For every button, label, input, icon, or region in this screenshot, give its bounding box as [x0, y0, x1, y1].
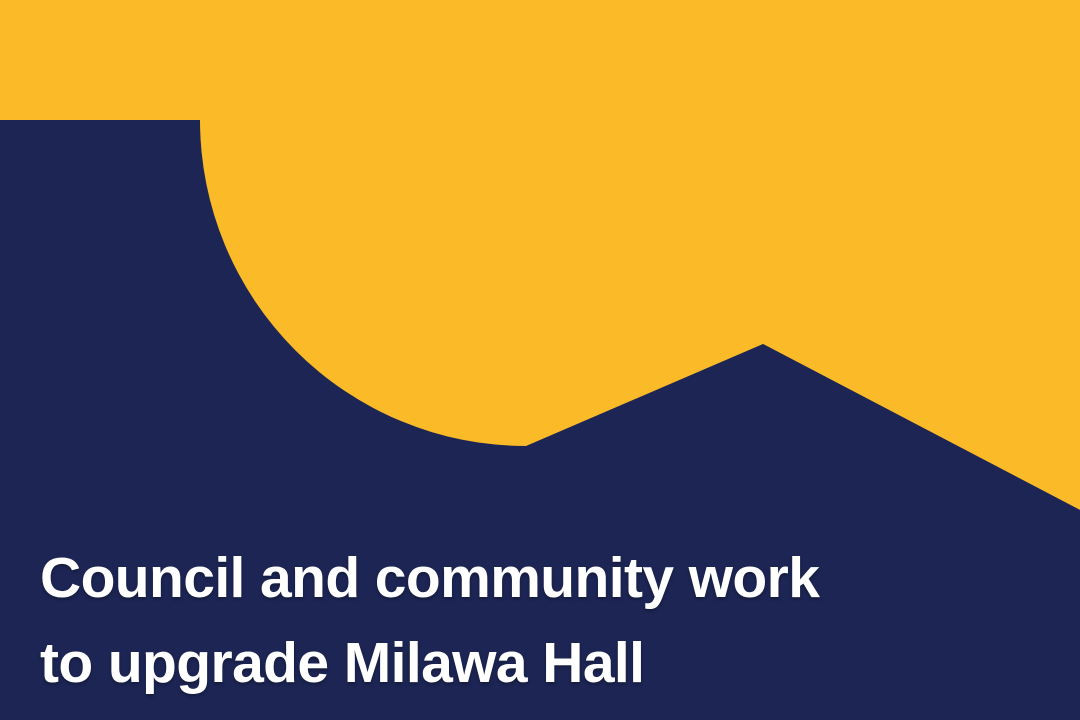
news-banner-image: Council and community work to upgrade Mi…: [0, 0, 1080, 720]
banner-headline: Council and community work to upgrade Mi…: [40, 536, 940, 706]
headline-line-1: Council and community work: [40, 536, 940, 621]
headline-line-2: to upgrade Milawa Hall: [40, 621, 940, 706]
